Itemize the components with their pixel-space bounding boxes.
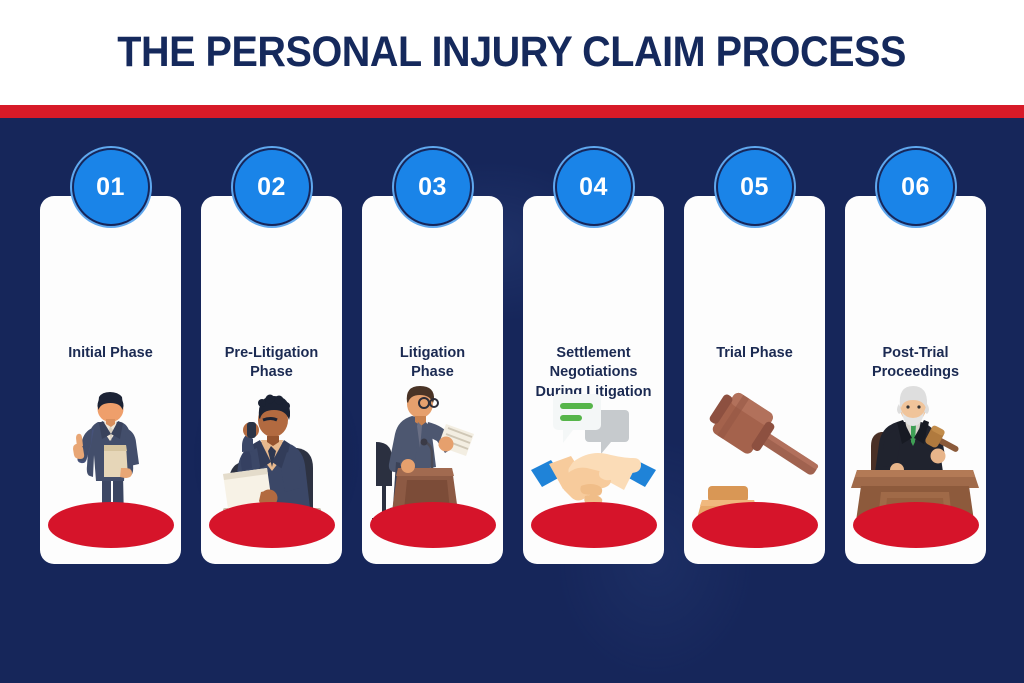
step-badge-05: 05 (718, 150, 792, 224)
step-label-04-line2: Negotiations (550, 364, 638, 380)
step-number-01: 01 (96, 173, 125, 202)
lawyer-on-phone-reading-document-illustration (201, 382, 342, 550)
step-label-06-line1: Post-Trial (882, 345, 948, 361)
floor-ellipse (692, 502, 818, 548)
step-number-04: 04 (579, 173, 608, 202)
step-label-02-line1: Pre-Litigation (225, 345, 318, 361)
step-label-01: Initial Phase (47, 344, 174, 363)
step-card-03[interactable]: Litigation Phase (362, 196, 503, 564)
step-badge-01: 01 (74, 150, 148, 224)
floor-ellipse (48, 502, 174, 548)
step-badge-06: 06 (879, 150, 953, 224)
step-label-05: Trial Phase (691, 344, 818, 363)
step-number-06: 06 (901, 173, 930, 202)
header: THE PERSONAL INJURY CLAIM PROCESS (0, 0, 1024, 105)
step-label-03-line1: Litigation (400, 345, 465, 361)
step-badge-02: 02 (235, 150, 309, 224)
step-card-02[interactable]: Pre-Litigation Phase (201, 196, 342, 564)
standing-lawyer-with-folder-illustration (40, 382, 181, 550)
infographic-poster: THE PERSONAL INJURY CLAIM PROCESS Initia… (0, 0, 1024, 683)
lawyer-at-podium-with-papers-illustration (362, 382, 503, 550)
step-card-01[interactable]: Initial Phase (40, 196, 181, 564)
floor-ellipse (531, 502, 657, 548)
handshake-with-speech-bubbles-illustration (523, 382, 664, 550)
step-label-06-line2: Proceedings (872, 364, 959, 380)
floor-ellipse (370, 502, 496, 548)
step-number-05: 05 (740, 173, 769, 202)
step-card-04[interactable]: Settlement Negotiations During Litigatio… (523, 196, 664, 564)
step-badge-03: 03 (396, 150, 470, 224)
step-label-03-line2: Phase (411, 364, 454, 380)
step-number-03: 03 (418, 173, 447, 202)
floor-ellipse (209, 502, 335, 548)
floor-ellipse (853, 502, 979, 548)
step-cards: Initial Phase (0, 118, 1024, 683)
step-number-02: 02 (257, 173, 286, 202)
gavel-and-sound-block-illustration (684, 382, 825, 550)
step-label-03: Litigation Phase (369, 344, 496, 383)
accent-bar (0, 105, 1024, 118)
step-label-04-line1: Settlement (556, 345, 630, 361)
judge-at-bench-with-scales-illustration (845, 382, 986, 550)
step-badge-04: 04 (557, 150, 631, 224)
step-label-06: Post-Trial Proceedings (852, 344, 979, 383)
step-card-06[interactable]: Post-Trial Proceedings (845, 196, 986, 564)
step-label-02: Pre-Litigation Phase (208, 344, 335, 383)
page-title: THE PERSONAL INJURY CLAIM PROCESS (118, 31, 907, 74)
step-card-05[interactable]: Trial Phase (684, 196, 825, 564)
process-panel: Initial Phase (0, 118, 1024, 683)
step-label-02-line2: Phase (250, 364, 293, 380)
